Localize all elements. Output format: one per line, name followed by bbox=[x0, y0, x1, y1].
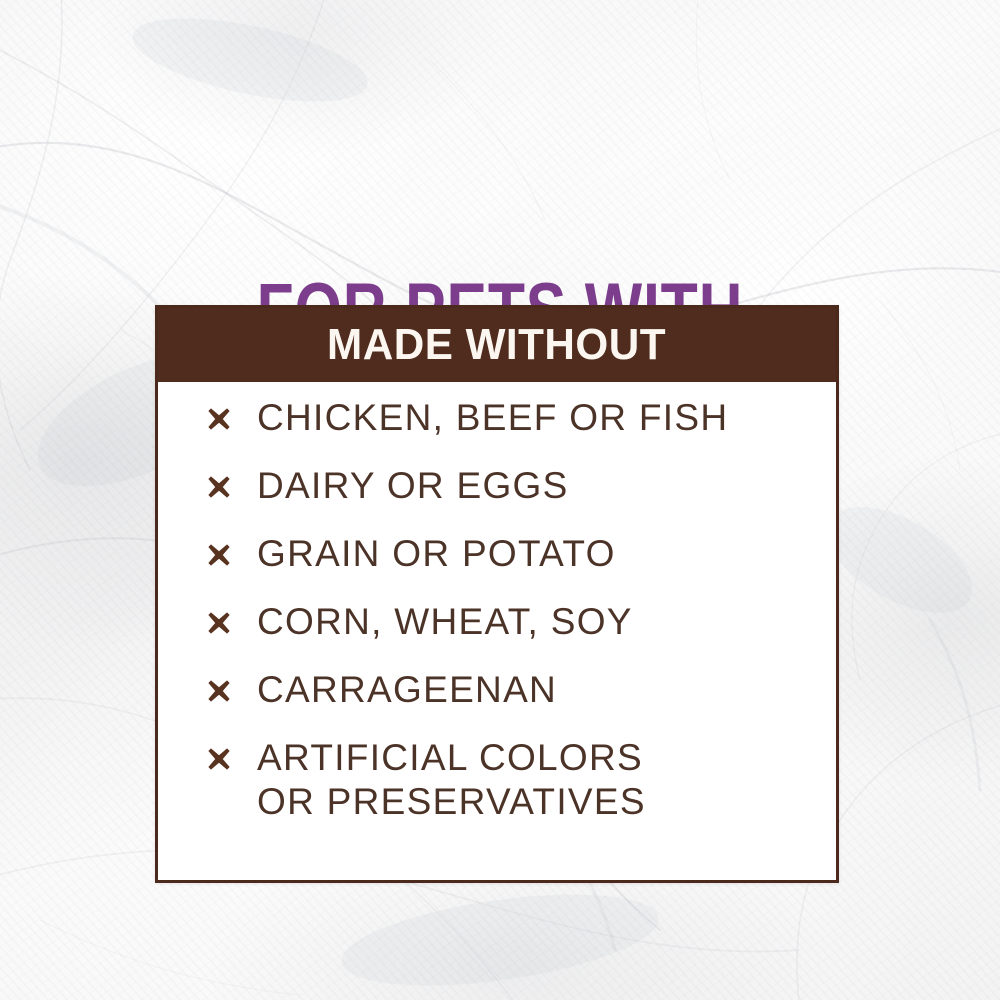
x-mark-icon bbox=[206, 534, 236, 576]
list-item-label: GRAIN OR POTATO bbox=[257, 532, 616, 576]
x-mark-icon bbox=[206, 602, 236, 644]
list-item: GRAIN OR POTATO bbox=[158, 532, 836, 600]
list-item: ARTIFICIAL COLORS OR PRESERVATIVES bbox=[158, 736, 836, 832]
list-item: DAIRY OR EGGS bbox=[158, 464, 836, 532]
panel-header-title: MADE WITHOUT bbox=[328, 322, 667, 368]
panel-header: MADE WITHOUT bbox=[158, 308, 836, 382]
list-item-label: DAIRY OR EGGS bbox=[257, 464, 569, 508]
list-item-label: CHICKEN, BEEF OR FISH bbox=[257, 396, 728, 440]
x-mark-icon bbox=[206, 738, 236, 780]
list-item-label: ARTIFICIAL COLORS OR PRESERVATIVES bbox=[257, 736, 646, 824]
list-item-label: CARRAGEENAN bbox=[257, 668, 557, 712]
list-item: CARRAGEENAN bbox=[158, 668, 836, 736]
made-without-list: CHICKEN, BEEF OR FISH DAIRY OR EGGS GRAI… bbox=[158, 382, 836, 880]
list-item: CHICKEN, BEEF OR FISH bbox=[158, 396, 836, 464]
x-mark-icon bbox=[206, 670, 236, 712]
list-item-label: CORN, WHEAT, SOY bbox=[257, 600, 633, 644]
list-item: CORN, WHEAT, SOY bbox=[158, 600, 836, 668]
made-without-panel: MADE WITHOUT CHICKEN, BEEF OR FISH DAIRY… bbox=[155, 305, 839, 883]
x-mark-icon bbox=[206, 466, 236, 508]
product-claims-graphic: FOR PETS WITH FOOD SENSITIVITIES MADE WI… bbox=[0, 0, 1000, 1000]
x-mark-icon bbox=[206, 398, 236, 440]
